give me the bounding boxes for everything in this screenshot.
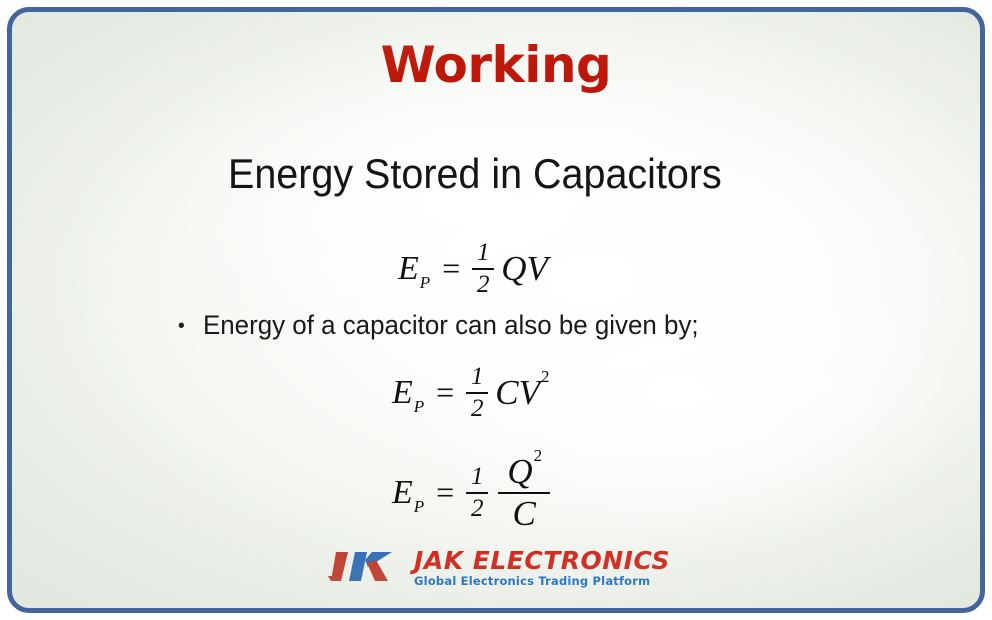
fraction-denominator: 2 — [474, 272, 493, 298]
fraction-one-half: 1 2 — [466, 464, 488, 521]
equation-exponent: 2 — [541, 367, 550, 386]
equation-term: QV — [501, 249, 548, 289]
fraction-q-squared-over-c: Q2 C — [498, 454, 550, 531]
light-bloom-upper — [167, 60, 767, 346]
bullet-text: Energy of a capacitor can also be given … — [203, 310, 699, 340]
fraction-denominator: C — [510, 496, 539, 532]
equation-relation: = — [442, 250, 460, 287]
equation-lhs: EP — [392, 374, 423, 412]
fraction-denominator: 2 — [468, 496, 487, 522]
equation-lhs: EP — [392, 474, 423, 512]
equation-energy-qv: EP = 1 2 QV — [398, 240, 548, 297]
equation-energy-q2c: EP = 1 2 Q2 C — [392, 454, 553, 531]
fraction-numerator: 1 — [474, 240, 493, 266]
equation-energy-cv2: EP = 1 2 CV2 — [392, 364, 548, 421]
bullet-marker-icon: • — [178, 315, 203, 338]
equation-symbol-e: E — [398, 250, 419, 287]
logo-text-block: JAK ELECTRONICS Global Electronics Tradi… — [414, 548, 670, 588]
numerator-base: Q — [507, 452, 532, 491]
logo-name: JAK ELECTRONICS — [414, 548, 670, 573]
equation-term-base: CV — [495, 373, 540, 412]
fraction-bar — [472, 268, 494, 270]
fraction-denominator: 2 — [468, 396, 487, 422]
bullet-item: •Energy of a capacitor can also be given… — [178, 310, 699, 341]
fraction-one-half: 1 2 — [466, 364, 488, 421]
equation-lhs: EP — [398, 250, 429, 288]
fraction-bar — [466, 492, 488, 494]
slide-frame: Working Energy Stored in Capacitors EP =… — [7, 7, 985, 613]
fraction-numerator: Q2 — [504, 454, 544, 490]
brand-logo: JAK ELECTRONICS Global Electronics Tradi… — [12, 548, 980, 588]
equation-relation: = — [436, 374, 454, 411]
equation-symbol-e: E — [392, 474, 413, 511]
equation-subscript-p: P — [414, 497, 424, 516]
fraction-numerator: 1 — [468, 364, 487, 390]
fraction-numerator: 1 — [468, 464, 487, 490]
fraction-one-half: 1 2 — [472, 240, 494, 297]
fraction-bar — [466, 392, 488, 394]
jk-monogram-icon — [322, 548, 406, 588]
numerator-exponent: 2 — [534, 446, 543, 465]
slide-canvas: Working Energy Stored in Capacitors EP =… — [12, 12, 980, 608]
logo-tagline: Global Electronics Trading Platform — [414, 576, 670, 588]
section-heading: Energy Stored in Capacitors — [228, 150, 722, 198]
page-title: Working — [12, 36, 980, 94]
equation-symbol-e: E — [392, 374, 413, 411]
equation-term: CV2 — [495, 373, 548, 413]
equation-relation: = — [436, 474, 454, 511]
equation-subscript-p: P — [420, 273, 430, 292]
equation-subscript-p: P — [414, 397, 424, 416]
